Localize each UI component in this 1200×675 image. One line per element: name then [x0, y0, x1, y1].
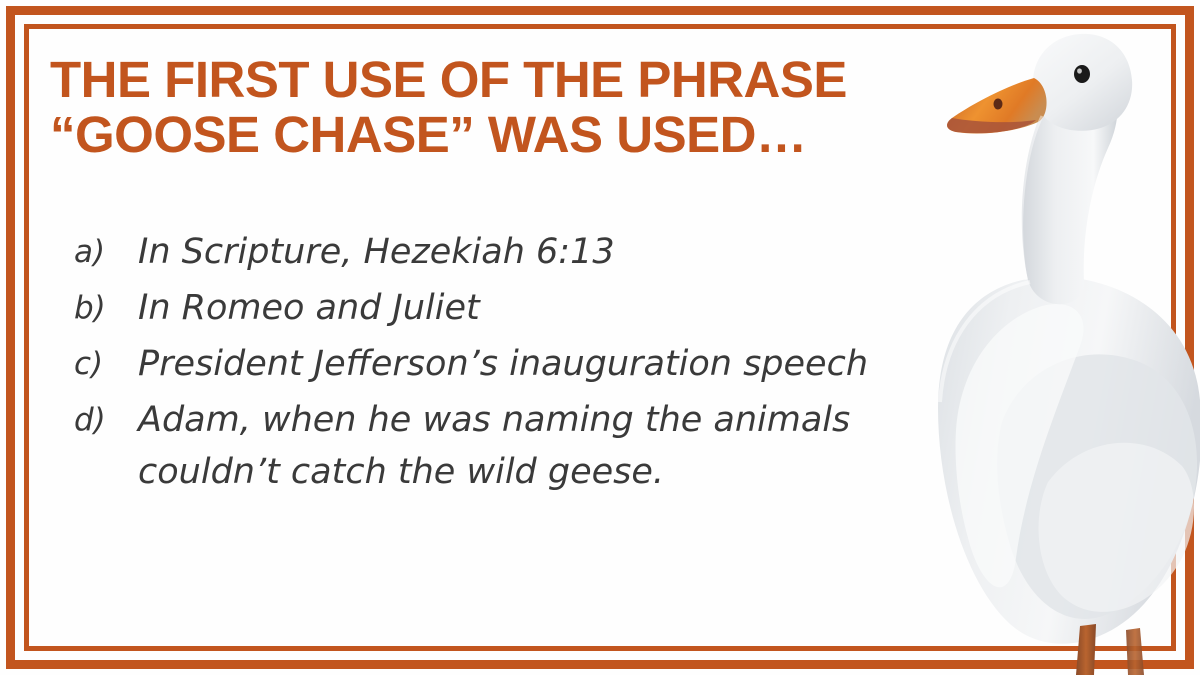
- answer-text-b: In Romeo and Juliet: [138, 282, 878, 334]
- answer-marker-c: c): [50, 338, 138, 390]
- trivia-slide: THE FIRST USE OF THE PHRASE “GOOSE CHASE…: [0, 0, 1200, 675]
- answer-marker-d: d): [50, 394, 138, 446]
- slide-content: THE FIRST USE OF THE PHRASE “GOOSE CHASE…: [50, 52, 950, 502]
- answer-marker-a: a): [50, 226, 138, 278]
- answer-option-b[interactable]: b) In Romeo and Juliet: [50, 282, 950, 334]
- answer-text-a: In Scripture, Hezekiah 6:13: [138, 226, 878, 278]
- answer-option-d[interactable]: d) Adam, when he was naming the animals …: [50, 394, 950, 498]
- question-title: THE FIRST USE OF THE PHRASE “GOOSE CHASE…: [50, 52, 950, 162]
- answer-text-d: Adam, when he was naming the animals cou…: [138, 394, 878, 498]
- answer-option-c[interactable]: c) President Jefferson’s inauguration sp…: [50, 338, 950, 390]
- goose-photo: [930, 30, 1200, 675]
- answer-option-a[interactable]: a) In Scripture, Hezekiah 6:13: [50, 226, 950, 278]
- answer-options-list: a) In Scripture, Hezekiah 6:13 b) In Rom…: [50, 226, 950, 498]
- answer-marker-b: b): [50, 282, 138, 334]
- answer-text-c: President Jefferson’s inauguration speec…: [138, 338, 878, 390]
